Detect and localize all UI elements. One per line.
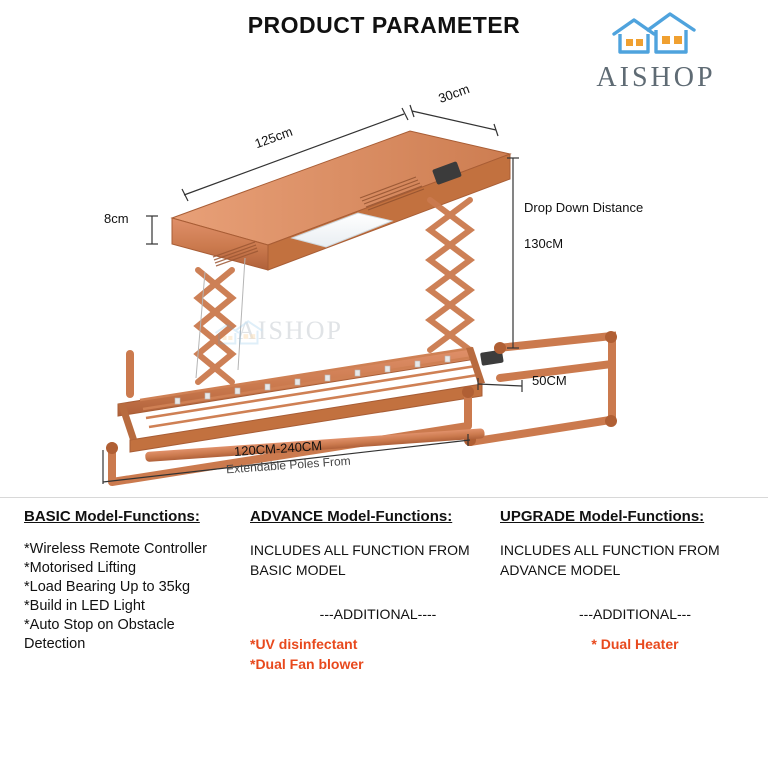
list-item: *Wireless Remote Controller [24,540,256,559]
list-item: *Load Bearing Up to 35kg [24,578,256,597]
upgrade-additional-label: ---ADDITIONAL--- [514,606,756,622]
advance-extra-1: *UV disinfectant [250,634,506,654]
list-item: *Auto Stop on Obstacle [24,616,256,635]
watermark: AISHOP [205,316,375,346]
product-diagram: AISHOP 125cm 30cm 8cm Drop Down Distance… [0,48,768,493]
product-parameter-page: PRODUCT PARAMETER AISHOP [0,0,768,768]
upgrade-heading: UPGRADE Model-Functions: [500,508,756,526]
upgrade-extra-1: * Dual Heater [514,634,756,654]
list-item: *Build in LED Light [24,597,256,616]
model-functions-columns: BASIC Model-Functions: *Wireless Remote … [0,508,768,748]
column-advance: ADVANCE Model-Functions: INCLUDES ALL FU… [250,508,506,674]
advance-includes-text: INCLUDES ALL FUNCTION FROM BASIC MODEL [250,540,506,580]
drop-distance-value: 130cM [524,236,563,251]
advance-additional-label: ---ADDITIONAL---- [250,606,506,622]
column-upgrade: UPGRADE Model-Functions: INCLUDES ALL FU… [500,508,756,654]
list-item: *Motorised Lifting [24,559,256,578]
column-basic: BASIC Model-Functions: *Wireless Remote … [24,508,256,654]
dim-height-label: 8cm [104,211,129,226]
list-item: Detection [24,635,256,654]
dim-side-width-label: 50CM [532,373,567,388]
section-divider [0,497,768,498]
basic-heading: BASIC Model-Functions: [24,508,256,526]
upgrade-includes-text: INCLUDES ALL FUNCTION FROM ADVANCE MODEL [500,540,756,580]
advance-extra-2: *Dual Fan blower [250,654,506,674]
drop-distance-title: Drop Down Distance [524,200,643,215]
advance-heading: ADVANCE Model-Functions: [250,508,506,526]
basic-feature-list: *Wireless Remote Controller *Motorised L… [24,540,256,654]
drying-rack-illustration [0,48,768,493]
